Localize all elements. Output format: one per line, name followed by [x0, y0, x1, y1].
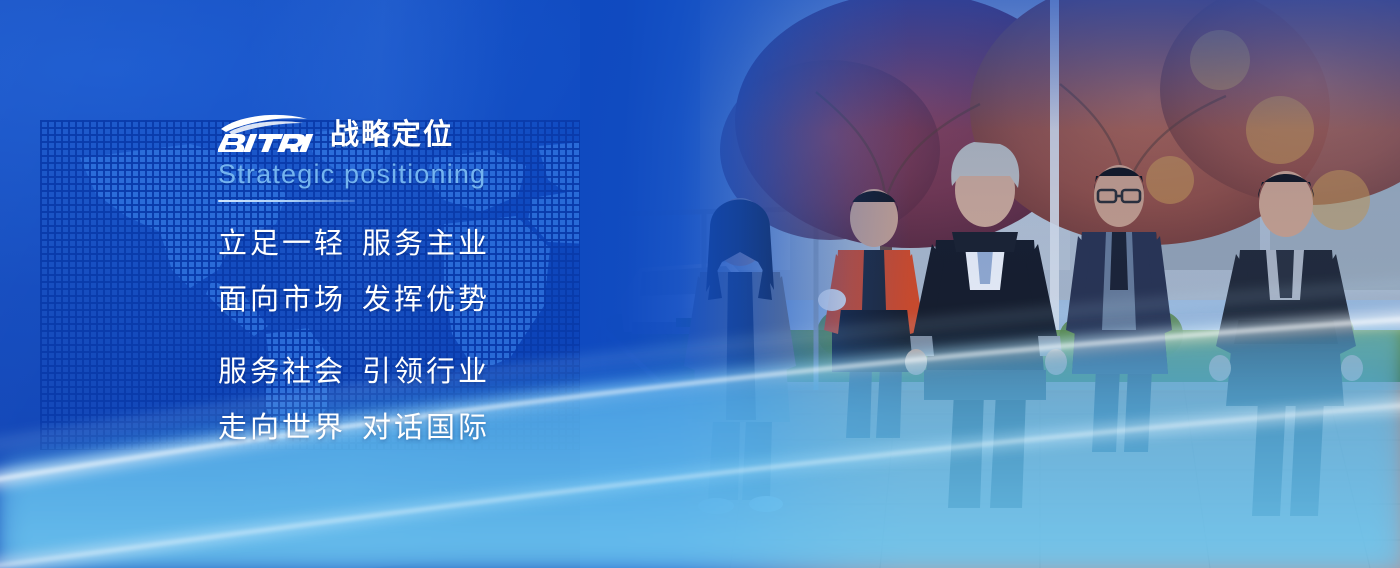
slogan-row: 面向市场 发挥优势 — [218, 276, 648, 318]
brand-lockup: 战略定位 — [218, 108, 648, 152]
slogan-row: 服务社会 引领行业 — [218, 348, 648, 390]
slogan-left: 面向市场 — [218, 276, 362, 318]
swoosh-arc-icon — [221, 115, 307, 135]
banner-copy: 战略定位 Strategic positioning 立足一轻 服务主业 面向市… — [218, 108, 648, 460]
slogan-right: 对话国际 — [362, 404, 490, 446]
slogan-left: 走向世界 — [218, 404, 362, 446]
strategic-positioning-banner: 战略定位 Strategic positioning 立足一轻 服务主业 面向市… — [0, 0, 1400, 568]
title-divider — [218, 200, 355, 202]
slogan-list: 立足一轻 服务主业 面向市场 发挥优势 服务社会 引领行业 走向世界 对话国际 — [218, 220, 648, 446]
slogan-row: 走向世界 对话国际 — [218, 404, 648, 446]
slogan-right: 发挥优势 — [362, 276, 490, 318]
brand-subtitle-en: Strategic positioning — [218, 161, 648, 188]
bitri-logo — [218, 112, 316, 152]
slogan-right: 引领行业 — [362, 348, 490, 390]
slogan-left: 服务社会 — [218, 348, 362, 390]
slogan-left: 立足一轻 — [218, 220, 362, 262]
slogan-row: 立足一轻 服务主业 — [218, 220, 648, 262]
campus-walkway-photo — [580, 0, 1400, 568]
brand-title-cn: 战略定位 — [330, 121, 454, 150]
slogan-right: 服务主业 — [362, 220, 490, 262]
